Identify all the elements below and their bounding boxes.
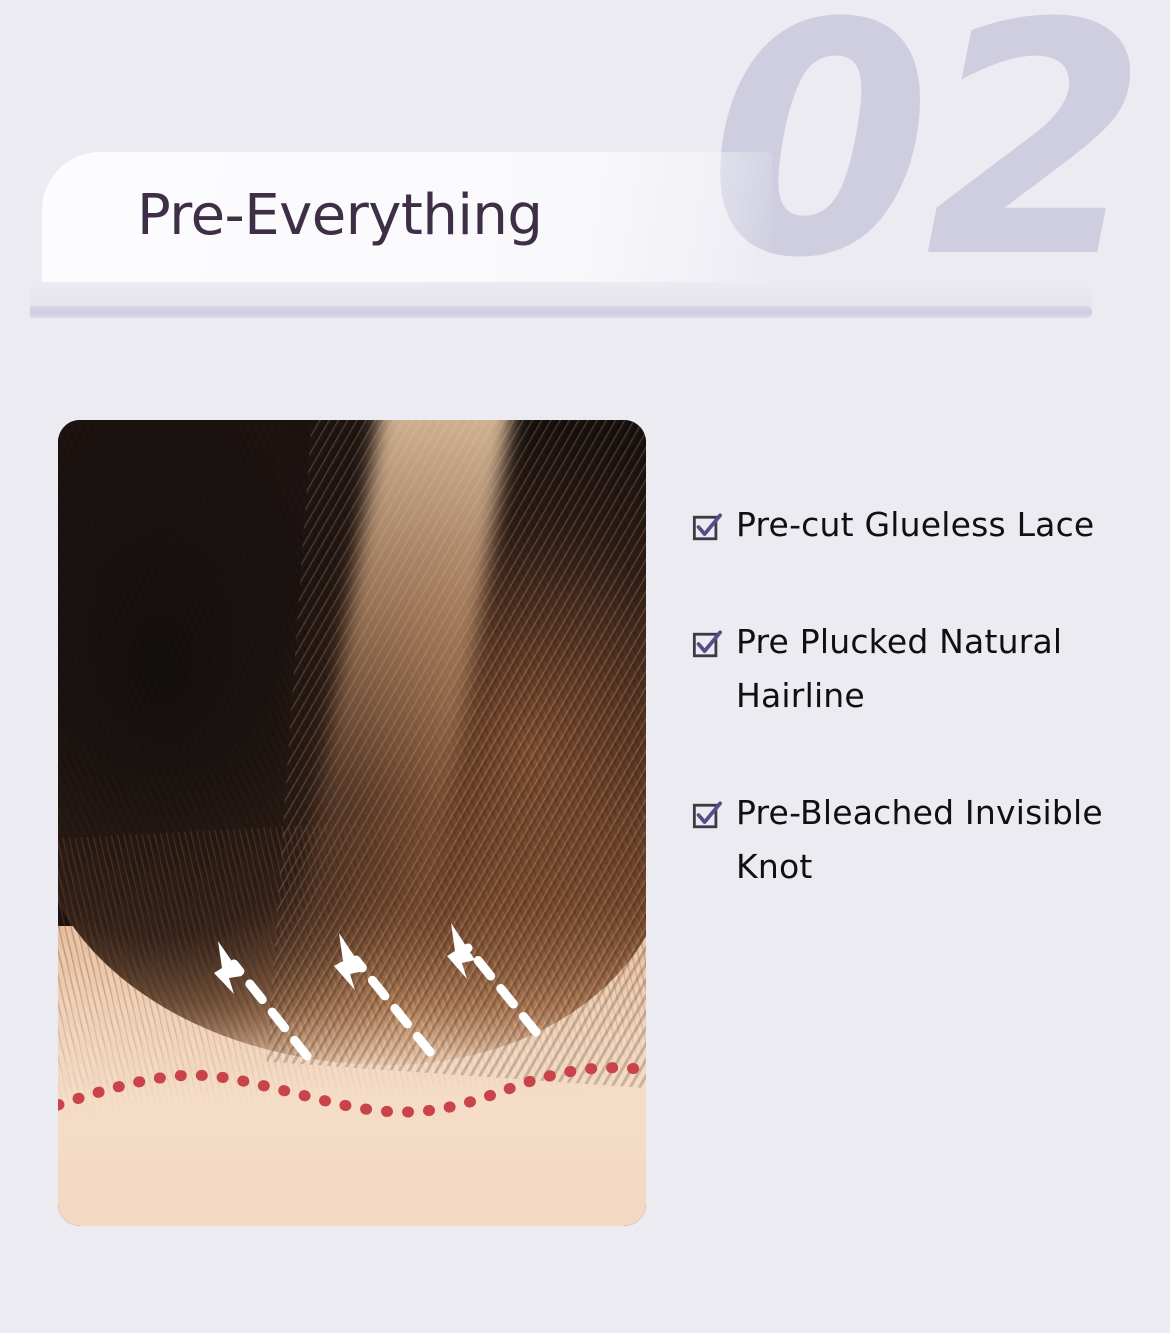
page-title: Pre-Everything: [137, 183, 542, 248]
list-item: Pre-cut Glueless Lace: [692, 498, 1152, 551]
checkbox-checked-icon: [692, 801, 722, 831]
header-divider-bar: [30, 306, 1092, 318]
list-item: Pre Plucked Natural Hairline: [692, 615, 1152, 722]
annotation-arrow-1: [234, 964, 307, 1056]
list-item-label: Pre Plucked Natural Hairline: [736, 615, 1152, 722]
section-header: 02 Pre-Everything: [0, 0, 1170, 370]
section-number: 02: [709, 0, 1142, 302]
section-title-plate: Pre-Everything: [42, 152, 772, 282]
feature-list: Pre-cut Glueless Lace Pre Plucked Natura…: [692, 498, 1152, 893]
annotation-arrow-3: [468, 948, 536, 1032]
checkbox-checked-icon: [692, 513, 722, 543]
photo-annotation-overlay: [58, 420, 646, 1226]
annotation-arrow-2: [356, 960, 430, 1052]
hairline-closeup-photo: [58, 420, 646, 1226]
list-item-label: Pre-Bleached Invisible Knot: [736, 786, 1152, 893]
list-item-label: Pre-cut Glueless Lace: [736, 498, 1094, 551]
checkbox-checked-icon: [692, 630, 722, 660]
annotation-dotted-hairline: [58, 1068, 646, 1112]
header-bar-glow: [30, 282, 1092, 308]
list-item: Pre-Bleached Invisible Knot: [692, 786, 1152, 893]
